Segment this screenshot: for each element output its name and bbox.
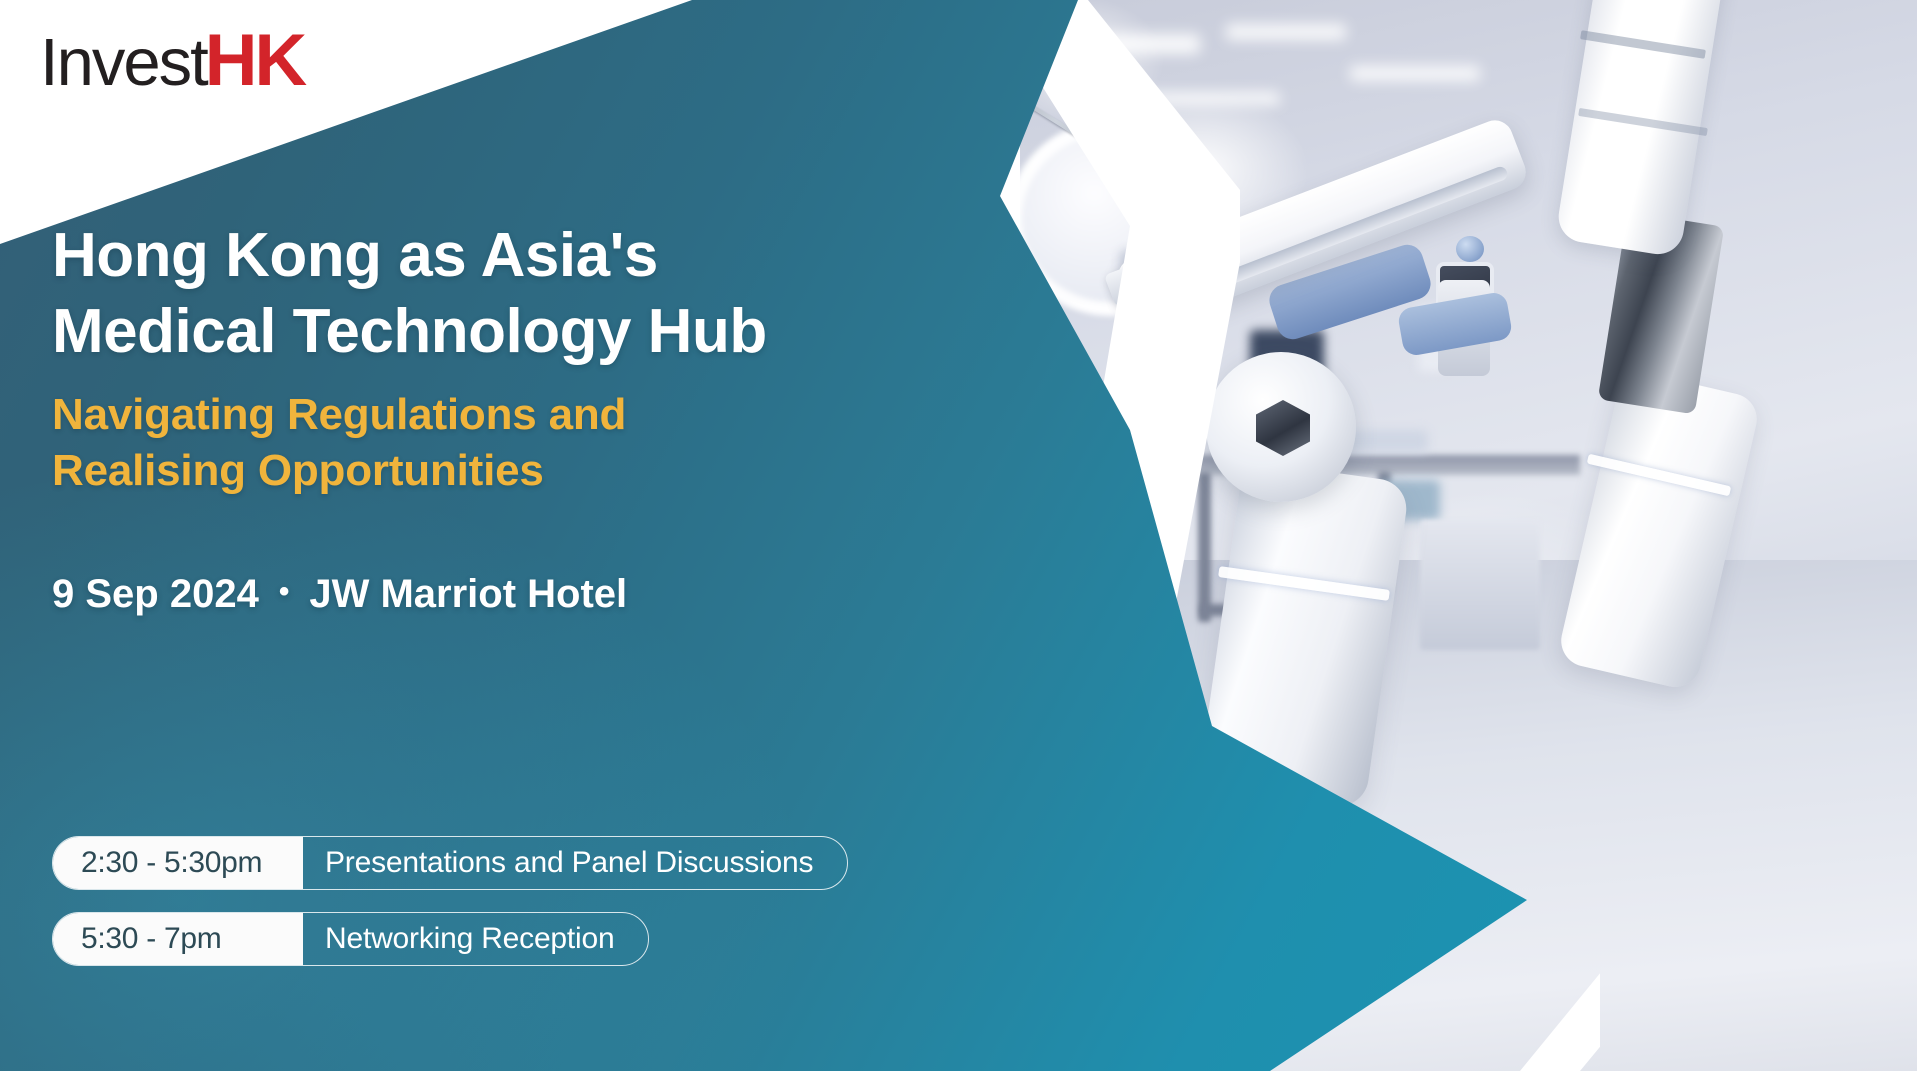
event-subtitle: Navigating Regulations and Realising Opp… xyxy=(52,387,952,498)
schedule-activity: Networking Reception xyxy=(303,913,648,965)
schedule-activity: Presentations and Panel Discussions xyxy=(303,837,847,889)
event-subtitle-line-2: Realising Opportunities xyxy=(52,443,952,498)
bullet-separator-icon: • xyxy=(279,577,290,607)
logo-text-invest: Invest xyxy=(40,29,207,96)
robot-link-mid xyxy=(1556,368,1762,692)
robot-blue-accent xyxy=(1397,291,1514,357)
schedule-item: 2:30 - 5:30pm Presentations and Panel Di… xyxy=(52,836,848,890)
event-banner: Invest HK Hong Kong as Asia's Medical Te… xyxy=(0,0,1917,1071)
event-title-line-1: Hong Kong as Asia's xyxy=(52,218,952,294)
schedule-time: 5:30 - 7pm xyxy=(53,913,303,965)
schedule-time: 2:30 - 5:30pm xyxy=(53,837,303,889)
schedule-list: 2:30 - 5:30pm Presentations and Panel Di… xyxy=(52,836,848,988)
robot-indicator xyxy=(1456,236,1484,262)
event-venue: JW Marriot Hotel xyxy=(309,572,627,617)
event-date: 9 Sep 2024 xyxy=(52,572,259,617)
event-title: Hong Kong as Asia's Medical Technology H… xyxy=(52,218,952,369)
headline-block: Hong Kong as Asia's Medical Technology H… xyxy=(52,218,952,498)
investhk-logo[interactable]: Invest HK xyxy=(40,24,304,97)
date-venue-line: 9 Sep 2024 • JW Marriot Hotel xyxy=(52,572,627,617)
logo-text-hk: HK xyxy=(205,24,304,97)
event-subtitle-line-1: Navigating Regulations and xyxy=(52,387,952,442)
schedule-item: 5:30 - 7pm Networking Reception xyxy=(52,912,649,966)
event-title-line-2: Medical Technology Hub xyxy=(52,294,952,370)
